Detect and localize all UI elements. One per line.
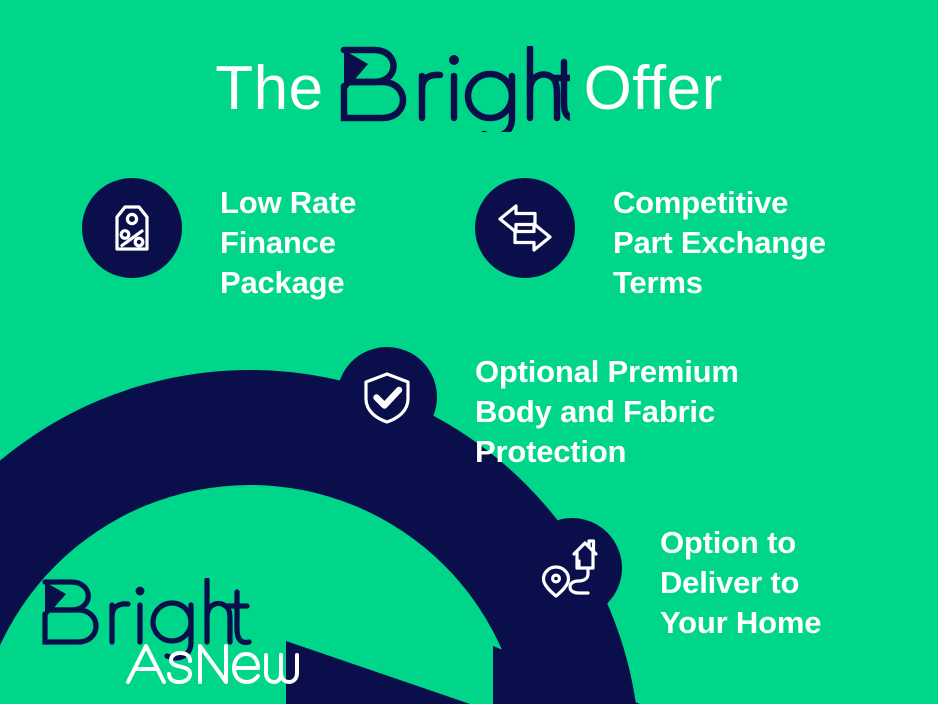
feature-body-fabric-protection: Optional Premium Body and Fabric Protect… <box>337 347 739 472</box>
feature-label-home-delivery: Option to Deliver to Your Home <box>660 518 821 643</box>
title-word-the: The <box>215 58 323 120</box>
feature-low-rate-finance: Low Rate Finance Package <box>82 178 356 303</box>
feature-icon-badge-delivery <box>522 518 622 618</box>
shield-check-icon <box>358 368 416 426</box>
map-pin-route-house-icon <box>541 537 603 599</box>
feature-label-part-exchange: Competitive Part Exchange Terms <box>613 178 826 303</box>
bright-logotype-icon <box>338 46 570 132</box>
bright-wordmark-title <box>338 46 570 132</box>
page-title: The <box>0 46 938 132</box>
bright-as-new-logo-icon <box>40 578 300 686</box>
feature-icon-badge-protection <box>337 347 437 447</box>
feature-label-low-rate-finance: Low Rate Finance Package <box>220 178 356 303</box>
feature-icon-badge-finance <box>82 178 182 278</box>
price-tag-percent-icon <box>103 199 161 257</box>
exchange-arrows-icon <box>495 198 555 258</box>
feature-home-delivery: Option to Deliver to Your Home <box>522 518 821 643</box>
offer-poster: The <box>0 0 938 704</box>
brand-logo-bright-as-new <box>40 578 300 686</box>
feature-icon-badge-exchange <box>475 178 575 278</box>
feature-part-exchange: Competitive Part Exchange Terms <box>475 178 826 303</box>
feature-label-body-fabric-protection: Optional Premium Body and Fabric Protect… <box>475 347 739 472</box>
title-word-offer: Offer <box>584 58 723 120</box>
